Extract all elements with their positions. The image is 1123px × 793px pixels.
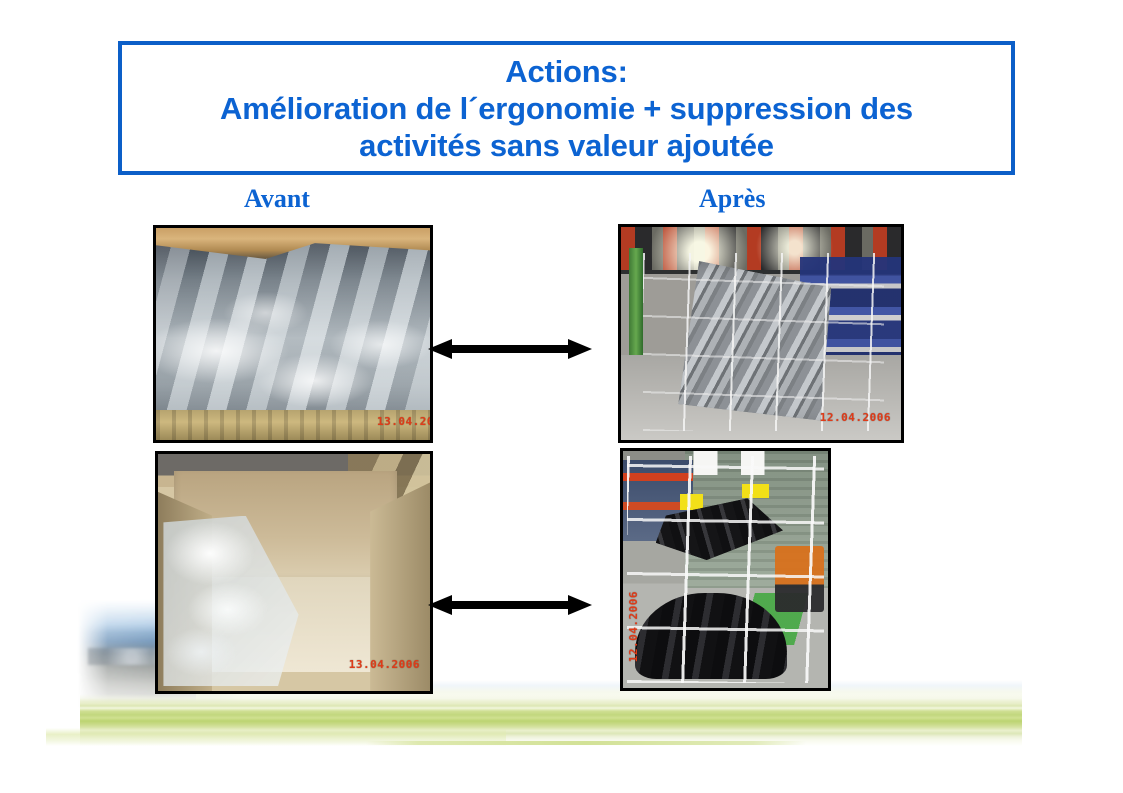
photo-before-bottom-image (158, 454, 430, 691)
photo-before-bottom-timestamp: 13.04.2006 (349, 658, 420, 671)
double-arrow-icon-bottom (428, 592, 592, 618)
title-line-1: Actions: (505, 53, 627, 90)
photo-after-bottom: 12.04.2006 (620, 448, 831, 691)
title-box: Actions: Amélioration de l´ergonomie + s… (118, 41, 1015, 175)
photo-after-top-image (621, 227, 901, 440)
photo-after-top: 12.04.2006 (618, 224, 904, 443)
photo-after-top-timestamp: 12.04.2006 (820, 411, 891, 424)
double-arrow-icon-top (428, 336, 592, 362)
photo-after-bottom-image (623, 451, 828, 688)
photo-before-top-timestamp: 13.04.20 (377, 415, 433, 428)
footer-rule (366, 741, 806, 745)
tubular-frame-region (627, 456, 824, 684)
caption-before: Avant (244, 185, 310, 213)
title-line-2: Amélioration de l´ergonomie + suppressio… (220, 90, 913, 127)
title-line-3: activités sans valeur ajoutée (359, 127, 774, 164)
caption-after: Après (699, 185, 765, 213)
photo-before-top-image (156, 228, 430, 440)
photo-before-bottom: 13.04.2006 (155, 451, 433, 694)
rack-rails-region (643, 253, 884, 432)
photo-before-top: 13.04.20 (153, 225, 433, 443)
photo-after-bottom-timestamp: 12.04.2006 (627, 591, 640, 662)
